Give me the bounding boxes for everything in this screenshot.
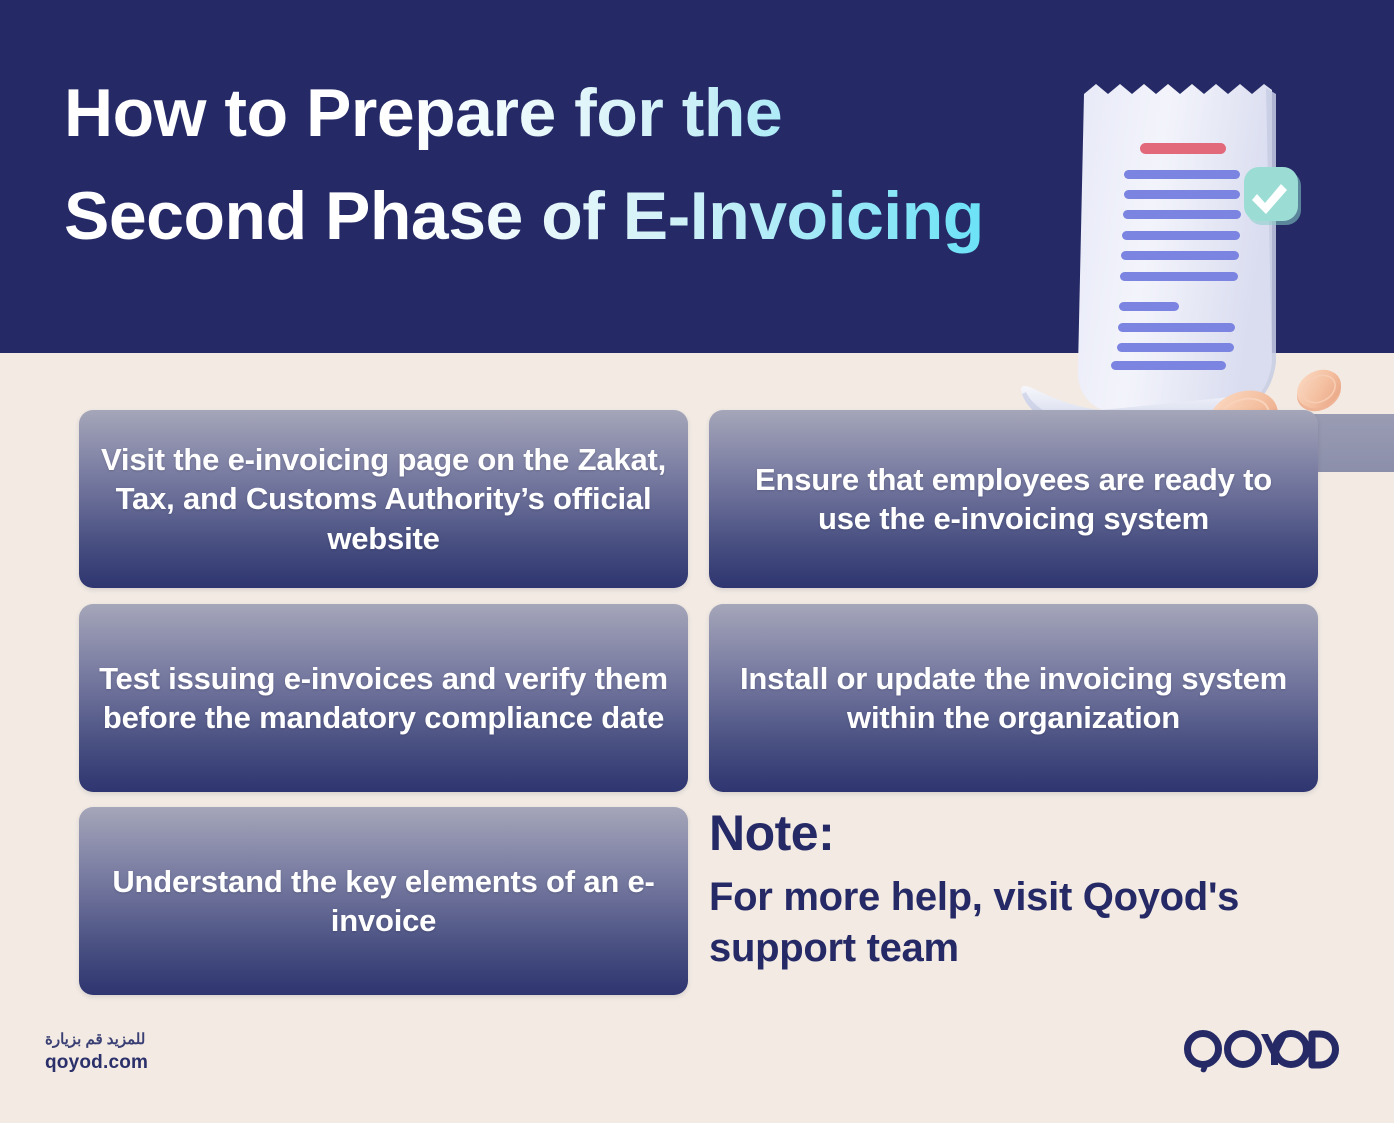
title-line-1: How to Prepare for the [64, 62, 1064, 165]
step-card-test-issuing-invoices[interactable]: Test issuing e-invoices and verify them … [79, 604, 688, 792]
qoyod-logo-icon [1183, 1030, 1339, 1074]
step-card-label: Understand the key elements of an e-invo… [97, 862, 670, 941]
step-card-understand-key-elements[interactable]: Understand the key elements of an e-invo… [79, 807, 688, 995]
note-block: Note: For more help, visit Qoyod's suppo… [709, 808, 1349, 974]
step-card-label: Visit the e-invoicing page on the Zakat,… [97, 440, 670, 558]
title-line-2: Second Phase of E-Invoicing [64, 165, 1064, 268]
step-card-install-update-system[interactable]: Install or update the invoicing system w… [709, 604, 1318, 792]
footer-contact: للمزيد قم بزيارة qoyod.com [45, 1030, 148, 1076]
header-band: How to Prepare for the Second Phase of E… [0, 0, 1394, 353]
footer-website-url[interactable]: qoyod.com [45, 1050, 148, 1076]
step-card-label: Test issuing e-invoices and verify them … [97, 659, 670, 738]
infographic-poster: How to Prepare for the Second Phase of E… [0, 0, 1394, 1123]
step-card-visit-zatca-page[interactable]: Visit the e-invoicing page on the Zakat,… [79, 410, 688, 588]
step-card-label: Ensure that employees are ready to use t… [727, 460, 1300, 539]
footer-arabic-text: للمزيد قم بزيارة [45, 1030, 148, 1050]
qoyod-logo[interactable] [1183, 1030, 1339, 1074]
note-heading: Note: [709, 808, 1349, 858]
page-title: How to Prepare for the Second Phase of E… [64, 62, 1064, 269]
step-card-label: Install or update the invoicing system w… [727, 659, 1300, 738]
note-body: For more help, visit Qoyod's support tea… [709, 872, 1349, 974]
step-card-ensure-employees-ready[interactable]: Ensure that employees are ready to use t… [709, 410, 1318, 588]
